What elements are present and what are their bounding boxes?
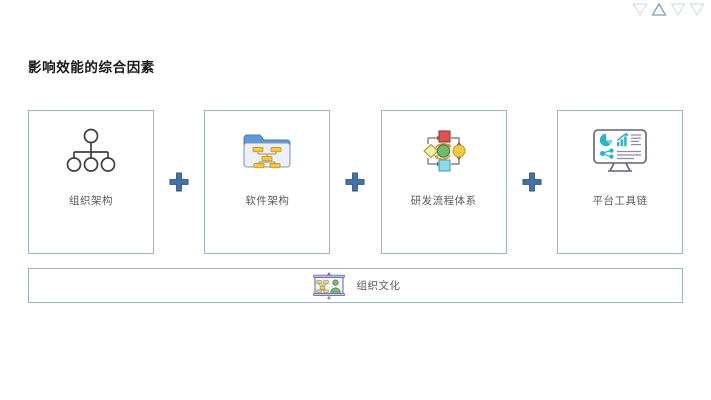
factor-card-rd-process[interactable]: 研发流程体系 xyxy=(381,110,507,254)
triangle-down-icon-2 xyxy=(670,2,686,17)
presentation-board-icon xyxy=(311,272,347,300)
triangle-down-icon-3 xyxy=(689,2,705,17)
triangle-up-icon xyxy=(651,2,667,17)
plus-icon xyxy=(168,171,190,193)
triangle-decoration xyxy=(632,2,705,17)
folder-hierarchy-icon xyxy=(240,123,294,179)
plus-icon xyxy=(344,171,366,193)
org-chart-icon xyxy=(65,123,117,179)
page-title: 影响效能的综合因素 xyxy=(28,56,155,76)
factor-card-label: 组织架构 xyxy=(69,193,113,208)
plus-sign-1 xyxy=(154,110,204,254)
triangle-down-icon-1 xyxy=(632,2,648,17)
foundation-bar-org-culture[interactable]: 组织文化 xyxy=(28,268,683,303)
factor-card-software-architecture[interactable]: 软件架构 xyxy=(204,110,330,254)
factor-card-platform-toolchain[interactable]: 平台工具链 xyxy=(557,110,683,254)
factors-row: 组织架构 xyxy=(28,110,683,254)
plus-icon xyxy=(521,171,543,193)
plus-sign-3 xyxy=(507,110,557,254)
factor-card-label: 平台工具链 xyxy=(592,193,647,208)
slide-canvas: 影响效能的综合因素 xyxy=(0,0,711,400)
foundation-bar-label: 组织文化 xyxy=(357,278,401,293)
plus-sign-2 xyxy=(330,110,380,254)
factor-card-label: 研发流程体系 xyxy=(411,193,477,208)
process-cycle-icon xyxy=(416,123,472,179)
monitor-dashboard-icon xyxy=(590,123,650,179)
factor-card-label: 软件架构 xyxy=(245,193,289,208)
factor-card-org-structure[interactable]: 组织架构 xyxy=(28,110,154,254)
